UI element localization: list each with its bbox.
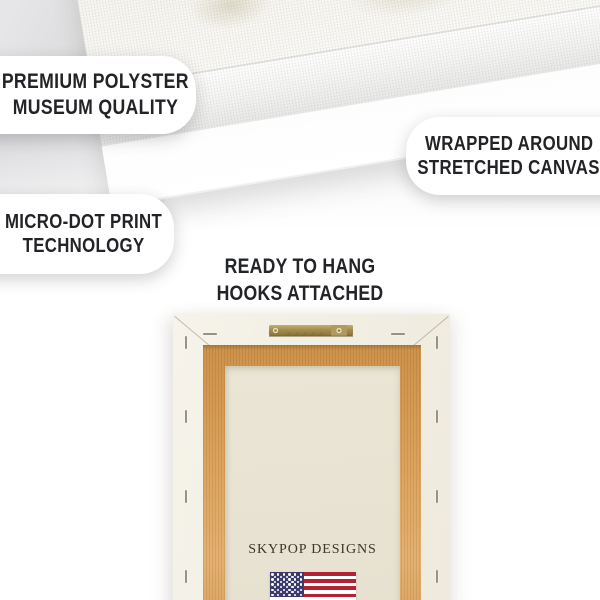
heading-line1: READY TO HANG bbox=[48, 254, 552, 281]
flag-star bbox=[297, 591, 299, 593]
flag-star bbox=[288, 573, 290, 575]
canvas-inner-back-panel: SKYPOP DESIGNS bbox=[225, 366, 400, 600]
flag-star bbox=[288, 589, 290, 591]
flag-star bbox=[288, 583, 290, 585]
product-infographic: PREMIUM POLYSTER MUSEUM QUALITY WRAPPED … bbox=[0, 0, 600, 600]
flag-star bbox=[271, 573, 273, 575]
ready-to-hang-heading: READY TO HANG HOOKS ATTACHED bbox=[0, 254, 600, 308]
flag-star bbox=[286, 591, 288, 593]
flag-star bbox=[274, 591, 276, 593]
flag-star bbox=[288, 578, 290, 580]
stretcher-bevel bbox=[203, 345, 421, 350]
flag-star bbox=[271, 578, 273, 580]
flag-star bbox=[300, 589, 302, 591]
badge-wrapped-around: WRAPPED AROUND STRETCHED CANVAS bbox=[406, 117, 600, 195]
badge-premium-polyster: PREMIUM POLYSTER MUSEUM QUALITY bbox=[0, 56, 196, 134]
badge-premium-line2: MUSEUM QUALITY bbox=[12, 95, 177, 121]
badge-micro-line1: MICRO-DOT PRINT bbox=[5, 210, 162, 234]
flag-star bbox=[283, 573, 285, 575]
us-flag bbox=[270, 572, 356, 600]
wooden-stretcher-frame: SKYPOP DESIGNS bbox=[203, 345, 421, 600]
sawtooth-hanger-icon bbox=[269, 323, 353, 341]
staple-right-3 bbox=[436, 490, 438, 503]
staple-top-right bbox=[391, 333, 405, 335]
flag-star bbox=[300, 573, 302, 575]
flag-star bbox=[294, 594, 296, 596]
staple-right-2 bbox=[436, 410, 438, 423]
flag-star bbox=[297, 586, 299, 588]
flag-star bbox=[291, 591, 293, 593]
staple-left-3 bbox=[185, 490, 187, 503]
flag-star bbox=[286, 586, 288, 588]
flag-star bbox=[288, 594, 290, 596]
badge-premium-line1: PREMIUM POLYSTER bbox=[1, 69, 188, 95]
staple-left-1 bbox=[185, 336, 187, 349]
staple-right-1 bbox=[436, 336, 438, 349]
flag-star bbox=[271, 589, 273, 591]
flag-star bbox=[271, 594, 273, 596]
canvas-back-photo: SKYPOP DESIGNS bbox=[173, 314, 450, 600]
flag-star bbox=[283, 594, 285, 596]
flag-star bbox=[300, 594, 302, 596]
flag-star bbox=[291, 586, 293, 588]
flag-star bbox=[291, 581, 293, 583]
badge-wrapped-line1: WRAPPED AROUND bbox=[425, 132, 593, 156]
flag-star bbox=[280, 586, 282, 588]
badge-wrapped-line2: STRETCHED CANVAS bbox=[418, 156, 600, 180]
flag-star bbox=[274, 586, 276, 588]
heading-line2: HOOKS ATTACHED bbox=[48, 281, 552, 308]
staple-left-4 bbox=[185, 570, 187, 583]
staple-top-left bbox=[203, 333, 217, 335]
flag-star bbox=[280, 591, 282, 593]
flag-star bbox=[277, 594, 279, 596]
flag-star bbox=[271, 583, 273, 585]
flag-star bbox=[283, 578, 285, 580]
flag-star bbox=[300, 583, 302, 585]
flag-star bbox=[300, 578, 302, 580]
flag-canton bbox=[270, 572, 304, 597]
brand-label: SKYPOP DESIGNS bbox=[225, 542, 400, 558]
staple-left-2 bbox=[185, 410, 187, 423]
flag-star bbox=[291, 576, 293, 578]
staple-right-4 bbox=[436, 570, 438, 583]
